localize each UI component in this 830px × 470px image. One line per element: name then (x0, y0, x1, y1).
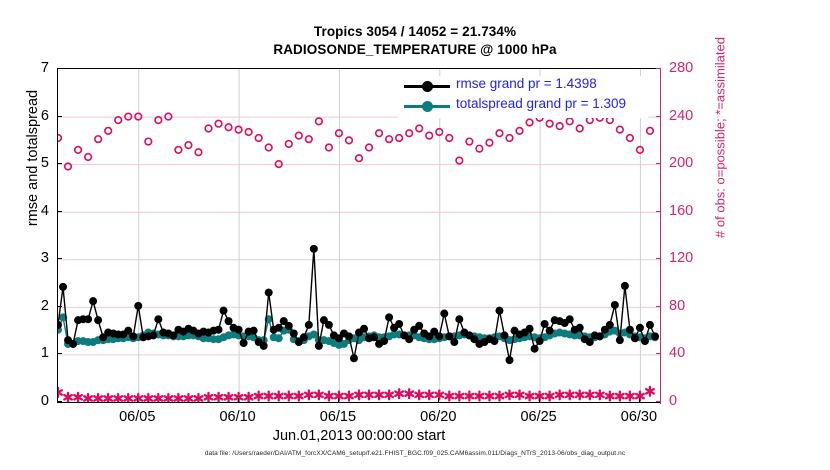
y-tickmark-right (656, 116, 661, 117)
x-tickmark (438, 398, 439, 403)
y-ticklabel-left: 7 (9, 60, 49, 76)
y-tickmark-right (656, 163, 661, 164)
page-title-line2: RADIOSONDE_TEMPERATURE @ 1000 hPa (0, 42, 830, 57)
legend-item-totalspread[interactable]: totalspread grand pr = 1.309 (398, 96, 648, 117)
y-tickmark-right (656, 401, 661, 402)
x-tickmark (338, 398, 339, 403)
x-ticklabel: 06/20 (420, 409, 456, 425)
legend-marker-rmse (422, 81, 433, 92)
figure-canvas: Tropics 3054 / 14052 = 21.734% RADIOSOND… (0, 0, 830, 470)
page-title-line1: Tropics 3054 / 14052 = 21.734% (0, 24, 830, 39)
legend-label-rmse: rmse grand pr = 1.4398 (456, 76, 597, 91)
x-ticklabel: 06/25 (520, 409, 556, 425)
x-axis-label: Jun.01,2013 00:00:00 start (0, 428, 718, 444)
y-tickmark-right (656, 306, 661, 307)
y-ticklabel-left: 0 (9, 393, 49, 409)
y-ticklabel-right: 0 (669, 393, 711, 409)
x-tickmark (137, 398, 138, 403)
y-ticklabel-right: 120 (669, 250, 711, 266)
y-tickmark-left (57, 353, 62, 354)
y-ticklabel-right: 160 (669, 203, 711, 219)
y-tickmark-left (57, 116, 62, 117)
y-ticklabel-right: 240 (669, 108, 711, 124)
y-ticklabel-right: 80 (669, 298, 711, 314)
y-tickmark-left (57, 258, 62, 259)
y-ticklabel-left: 4 (9, 203, 49, 219)
x-ticklabel: 06/15 (320, 409, 356, 425)
y-ticklabel-right: 200 (669, 155, 711, 171)
y-tickmark-left (57, 306, 62, 307)
x-tickmark (639, 398, 640, 403)
x-ticklabel: 06/30 (621, 409, 657, 425)
x-tickmark (238, 398, 239, 403)
legend: rmse grand pr = 1.4398 totalspread grand… (398, 76, 648, 118)
y-ticklabel-left: 5 (9, 155, 49, 171)
y-ticklabel-left: 2 (9, 298, 49, 314)
legend-label-totalspread: totalspread grand pr = 1.309 (456, 96, 626, 111)
y-tickmark-left (57, 68, 62, 69)
legend-item-rmse[interactable]: rmse grand pr = 1.4398 (398, 76, 648, 97)
plot-area (57, 68, 661, 403)
data-file-footer: data file: /Users/raeder/DAI/ATM_forcXX/… (0, 450, 830, 457)
x-tickmark (539, 398, 540, 403)
y-axis-label-right: # of obs: o=possible; *=assimilated (713, 0, 728, 288)
y-ticklabel-right: 280 (669, 60, 711, 76)
y-ticklabel-right: 40 (669, 345, 711, 361)
y-tickmark-left (57, 163, 62, 164)
legend-marker-totalspread (422, 101, 433, 112)
data-series-layer (58, 69, 660, 402)
y-tickmark-right (656, 353, 661, 354)
y-ticklabel-left: 3 (9, 250, 49, 266)
y-tickmark-right (656, 211, 661, 212)
y-tickmark-left (57, 401, 62, 402)
y-tickmark-right (656, 68, 661, 69)
y-ticklabel-left: 6 (9, 108, 49, 124)
x-ticklabel: 06/10 (219, 409, 255, 425)
x-ticklabel: 06/05 (119, 409, 155, 425)
y-ticklabel-left: 1 (9, 345, 49, 361)
y-tickmark-left (57, 211, 62, 212)
y-tickmark-right (656, 258, 661, 259)
